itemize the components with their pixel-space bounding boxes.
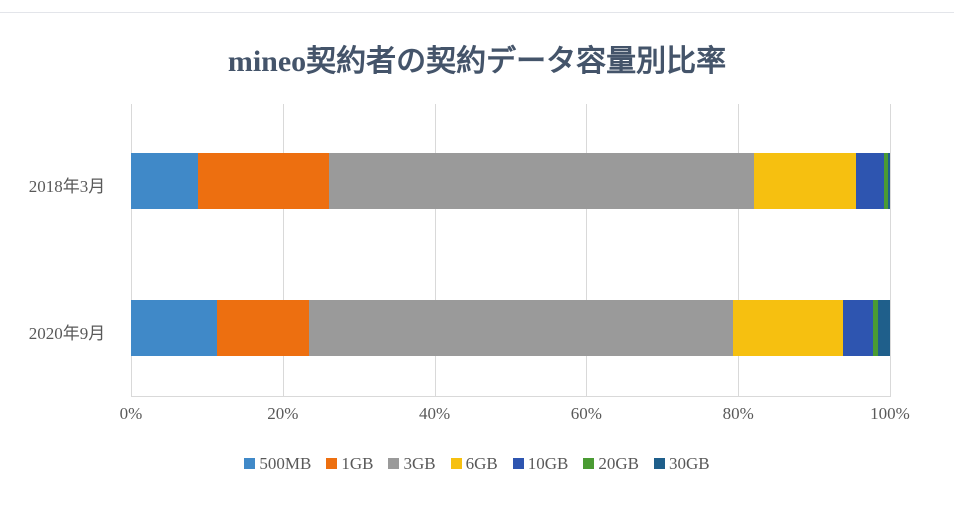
bar-row: [131, 153, 890, 209]
bar-segment-500mb[interactable]: [131, 300, 217, 356]
legend-label: 30GB: [669, 455, 710, 472]
legend-swatch-icon: [388, 458, 399, 469]
legend-swatch-icon: [326, 458, 337, 469]
bar-segment-30gb[interactable]: [888, 153, 890, 209]
bar-segment-1gb[interactable]: [217, 300, 310, 356]
bar-segment-1gb[interactable]: [198, 153, 329, 209]
legend-label: 10GB: [528, 455, 569, 472]
legend-label: 1GB: [341, 455, 373, 472]
y-axis-category-label: 2020年9月: [9, 319, 125, 344]
legend-label: 3GB: [403, 455, 435, 472]
top-divider: [0, 12, 954, 13]
x-tick-label: 80%: [723, 404, 754, 424]
legend-label: 500MB: [259, 455, 311, 472]
y-axis-category-labels: 2018年3月2020年9月: [0, 104, 125, 396]
bar-segment-500mb[interactable]: [131, 153, 198, 209]
x-tick-label: 20%: [267, 404, 298, 424]
legend-swatch-icon: [244, 458, 255, 469]
x-tick-label: 100%: [870, 404, 910, 424]
chart-container: mineo契約者の契約データ容量別比率 2018年3月2020年9月 0%20%…: [0, 0, 954, 506]
bar-segment-6gb[interactable]: [754, 153, 856, 209]
legend-item-3gb[interactable]: 3GB: [388, 455, 435, 472]
legend-label: 20GB: [598, 455, 639, 472]
legend-item-6gb[interactable]: 6GB: [451, 455, 498, 472]
bar-segment-10gb[interactable]: [843, 300, 873, 356]
legend-swatch-icon: [654, 458, 665, 469]
y-axis-category-label: 2018年3月: [9, 172, 125, 197]
chart-legend: 500MB1GB3GB6GB10GB20GB30GB: [0, 455, 954, 472]
bar-segment-6gb[interactable]: [733, 300, 843, 356]
legend-swatch-icon: [513, 458, 524, 469]
x-tick-label: 40%: [419, 404, 450, 424]
x-axis-tick-labels: 0%20%40%60%80%100%: [0, 404, 954, 432]
legend-item-30gb[interactable]: 30GB: [654, 455, 710, 472]
gridline: [890, 104, 891, 396]
bar-segment-3gb[interactable]: [329, 153, 754, 209]
bar-series-group: [131, 104, 890, 396]
x-tick-label: 0%: [120, 404, 143, 424]
legend-swatch-icon: [451, 458, 462, 469]
bar-row: [131, 300, 890, 356]
legend-item-20gb[interactable]: 20GB: [583, 455, 639, 472]
legend-item-10gb[interactable]: 10GB: [513, 455, 569, 472]
plot-area: [131, 104, 890, 396]
bar-segment-30gb[interactable]: [878, 300, 890, 356]
x-axis-line: [131, 396, 891, 397]
legend-swatch-icon: [583, 458, 594, 469]
legend-item-1gb[interactable]: 1GB: [326, 455, 373, 472]
bar-segment-10gb[interactable]: [856, 153, 884, 209]
page-title: mineo契約者の契約データ容量別比率: [0, 36, 954, 80]
legend-item-500mb[interactable]: 500MB: [244, 455, 311, 472]
x-tick-label: 60%: [571, 404, 602, 424]
bar-segment-3gb[interactable]: [309, 300, 733, 356]
legend-label: 6GB: [466, 455, 498, 472]
